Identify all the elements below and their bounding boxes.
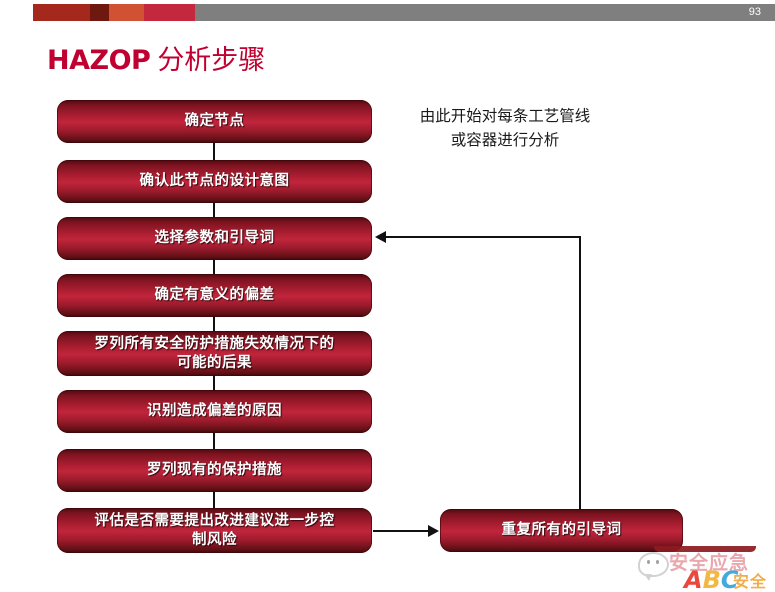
- connector-step1-step2: [213, 143, 215, 160]
- watermark-abc-logo: ABC: [684, 566, 739, 592]
- flow-step-3-label: 选择参数和引导词: [155, 230, 275, 247]
- flow-step-8-label-line-1: 评估是否需要提出改进建议进一步控: [95, 512, 335, 531]
- arrowhead-into-step3: [375, 231, 386, 243]
- flow-step-6[interactable]: 识别造成偏差的原因: [57, 390, 372, 433]
- annotation-line-1: 由此开始对每条工艺管线: [381, 104, 629, 128]
- topbar-segment-brick-red: [33, 4, 90, 21]
- title-cjk: 分析步骤: [157, 45, 265, 76]
- annotation-text: 由此开始对每条工艺管线 或容器进行分析: [381, 104, 629, 152]
- connector-step6-step7: [213, 433, 215, 449]
- flow-step-2[interactable]: 确认此节点的设计意图: [57, 160, 372, 203]
- watermark-letter-a: A: [684, 566, 703, 592]
- topbar-segment-orange-red: [109, 4, 144, 21]
- watermark-letter-b: B: [703, 566, 721, 592]
- flow-step-1[interactable]: 确定节点: [57, 100, 372, 143]
- topbar-segment-blank: [0, 4, 33, 21]
- flow-step-7-label: 罗列现有的保护措施: [147, 462, 282, 479]
- flow-step-4[interactable]: 确定有意义的偏差: [57, 274, 372, 317]
- top-decorative-bar: [0, 4, 775, 21]
- title-latin: HAZOP: [47, 45, 150, 76]
- flow-step-5[interactable]: 罗列所有安全防护措施失效情况下的 可能的后果: [57, 331, 372, 376]
- connector-step4-step5: [213, 317, 215, 331]
- flow-step-6-label: 识别造成偏差的原因: [147, 403, 282, 420]
- arrowhead-into-loop-box: [428, 525, 439, 537]
- flow-step-8[interactable]: 评估是否需要提出改进建议进一步控 制风险: [57, 508, 372, 553]
- watermark-cn-bottom: 安全: [733, 568, 767, 592]
- annotation-line-2: 或容器进行分析: [381, 128, 629, 152]
- page-number: 93: [749, 4, 761, 21]
- topbar-segment-crimson: [144, 4, 195, 21]
- flow-step-1-label: 确定节点: [185, 113, 245, 130]
- flow-step-7[interactable]: 罗列现有的保护措施: [57, 449, 372, 492]
- topbar-segment-gray: [195, 4, 775, 21]
- connector-step7-step8: [213, 492, 215, 508]
- connector-loop-vertical: [579, 236, 581, 510]
- wechat-bubble-eye-right: [656, 560, 659, 564]
- connector-step5-step6: [213, 376, 215, 390]
- connector-step3-step4: [213, 260, 215, 274]
- page-title: HAZOP分析步骤: [47, 38, 265, 77]
- flow-step-4-label: 确定有意义的偏差: [155, 287, 275, 304]
- flow-step-3[interactable]: 选择参数和引导词: [57, 217, 372, 260]
- wechat-bubble-eye-left: [647, 560, 650, 564]
- flow-step-8-label-line-2: 制风险: [192, 531, 237, 550]
- flow-step-2-label: 确认此节点的设计意图: [140, 173, 290, 190]
- connector-step2-step3: [213, 203, 215, 217]
- flow-step-5-label-line-2: 可能的后果: [177, 354, 252, 373]
- topbar-segment-dark-maroon: [90, 4, 109, 21]
- connector-step8-to-loop: [373, 530, 430, 532]
- watermark: 安全应急 ABC 安全: [636, 546, 775, 592]
- flow-step-5-label-line-1: 罗列所有安全防护措施失效情况下的: [95, 335, 335, 354]
- wechat-bubble-icon: [638, 552, 669, 577]
- slide-canvas: 93 HAZOP分析步骤 由此开始对每条工艺管线 或容器进行分析 确定节点 确认…: [0, 0, 775, 592]
- connector-loop-horizontal: [386, 236, 581, 238]
- flow-step-loop-label: 重复所有的引导词: [502, 522, 622, 539]
